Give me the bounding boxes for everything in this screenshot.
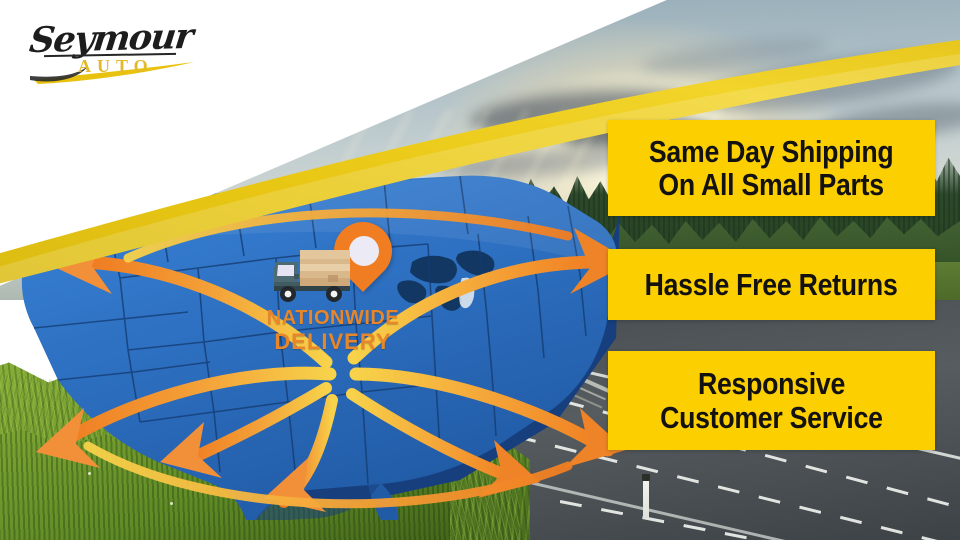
promo-panel-line: Customer Service — [660, 401, 883, 434]
promo-panel-line: On All Small Parts — [659, 168, 884, 201]
promo-panel-line: Responsive — [698, 367, 845, 400]
nationwide-delivery-label: NATIONWIDE DELIVERY — [258, 308, 408, 353]
nationwide-line-2: DELIVERY — [258, 330, 408, 354]
promotional-banner: NATIONWIDE DELIVERY Seymour A — [0, 0, 960, 540]
brand-logo[interactable]: Seymour AUTO — [24, 18, 214, 90]
promo-panel-line: Same Day Shipping — [649, 135, 894, 168]
promo-panel-same-day-shipping[interactable]: Same Day Shipping On All Small Parts — [608, 120, 935, 216]
delivery-truck-icon — [272, 248, 358, 304]
promo-panel-line: Hassle Free Returns — [645, 268, 898, 301]
promo-panel-hassle-free-returns[interactable]: Hassle Free Returns — [608, 249, 935, 320]
logo-sub-word: AUTO — [78, 56, 154, 77]
nationwide-line-1: NATIONWIDE — [258, 308, 408, 330]
promo-panel-responsive-customer-service[interactable]: Responsive Customer Service — [608, 351, 935, 450]
